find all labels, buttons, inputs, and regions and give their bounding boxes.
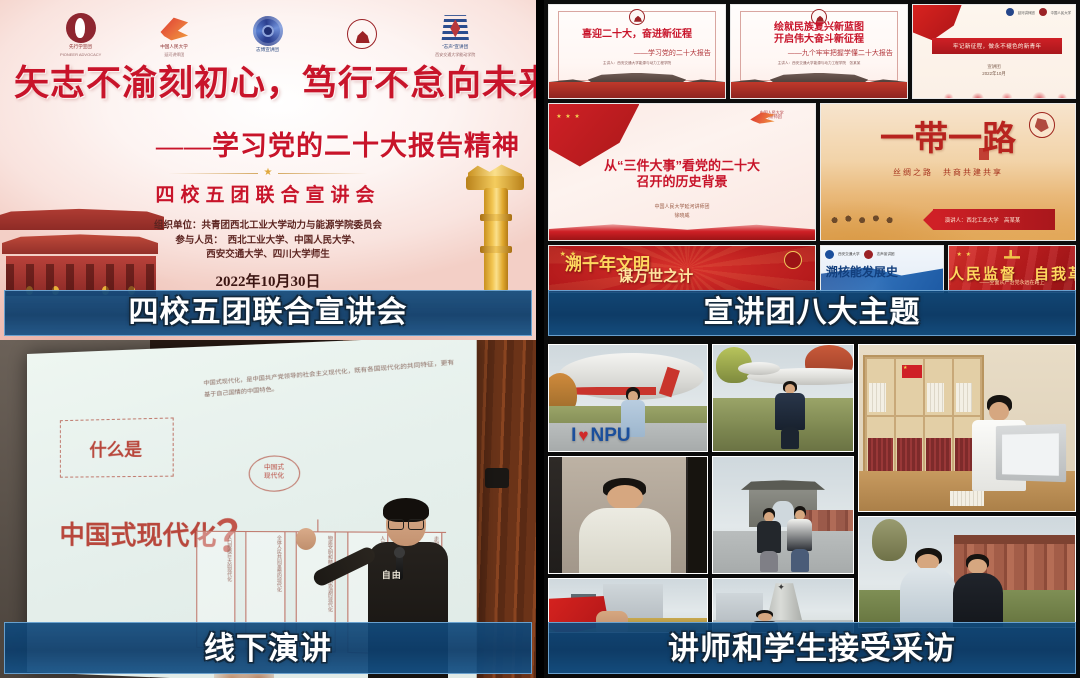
thumb-7-org-logos: 西安交通大学 志声宣讲团 — [825, 250, 895, 259]
thumb-yidai-yilu[interactable]: 一带一路 丝绸之路 共商共建共享 演讲人：西北工业大学 高某某 — [820, 103, 1076, 241]
thumb-6-title-2: 谋万世之计 — [618, 270, 788, 285]
thumb-3-org-logos: 延河讲师团 中国人民大学 — [1006, 8, 1071, 16]
panel-interviews[interactable]: I ♥ NPU — [544, 340, 1080, 678]
thumb-huijiu-minzu-fuxing[interactable]: 绘就民族复兴新蓝图 开启伟大奋斗新征程 ——九个牢牢把握学懂二十大报告 主讲人：… — [730, 4, 908, 99]
flag-stars-icon: ★ ★ — [957, 251, 972, 258]
thumb-renmin-jiandu[interactable]: ★ ★ 人民监督 自我革命 ——全面从严治党永远在路上 — [948, 245, 1076, 293]
panel-offline-lecture[interactable]: 中国式现代化，是中国共产党领导的社会主义现代化，既有各国现代化的共同特征，更有基… — [0, 340, 536, 678]
poster-event-name: 四校五团联合宣讲会 — [0, 180, 536, 207]
male-student-hoodie — [584, 478, 666, 573]
thumb-3-title-banner: 牢记新征程，做永不褪色的新青年 — [932, 38, 1062, 54]
student-right — [786, 506, 814, 571]
panel-poster-caption-text: 四校五团联合宣讲会 — [129, 298, 408, 328]
thumb-1-subtitle: ——学习党的二十大报告 — [560, 48, 711, 58]
thumb-2-subtitle: ——九个牢牢把握学懂二十大报告 — [742, 48, 893, 58]
thumb-3-presenter: 宣讲团 2022年10月 — [913, 63, 1075, 78]
slide-center-node: 中国式 现代化 — [248, 454, 300, 491]
panel-offline-lecture-caption: 线下演讲 — [4, 622, 532, 674]
photo-collage: 先行学宣团 PIONEER ADVOCACY 中国人民大学 延河讲师团 志博宣讲… — [0, 0, 1080, 678]
calligraphy-seal-icon — [1029, 112, 1055, 138]
thumb-sanjian-dashi[interactable]: 中国人民大学 延河讲师团 从“三件大事”看党的二十大 召开的历史背景 中国人民大… — [548, 103, 816, 241]
renda-yanhe-logo: 中国人民大学 延河讲师团 — [750, 111, 794, 120]
org-badge-icon — [784, 251, 802, 269]
panel-poster[interactable]: 先行学宣团 PIONEER ADVOCACY 中国人民大学 延河讲师团 志博宣讲… — [0, 0, 536, 340]
laptop — [996, 423, 1067, 482]
panel-offline-lecture-caption-text: 线下演讲 — [204, 633, 332, 664]
thumb-su-qiannian-wenming[interactable]: ★ ★ 溯千年文明 谋万世之计 — [548, 245, 816, 293]
thumb-4-presenter: 中国人民大学延河讲师团 徐晓威 — [549, 203, 815, 221]
loudspeaker-icon — [485, 468, 509, 488]
renda-yanhe-lecture-team-logo: 中国人民大学 延河讲师团 — [135, 13, 213, 56]
thumb-1-title: 喜迎二十大，奋进新征程 — [560, 29, 715, 42]
photo-student-at-bookshelf-desk[interactable] — [858, 344, 1076, 512]
photo-two-students-at-campus-gate[interactable] — [712, 456, 854, 574]
i-love-npu-sign: I ♥ NPU — [571, 425, 631, 447]
thumb-2-title: 绘就民族复兴新蓝图 开启伟大奋斗新征程 — [742, 22, 897, 47]
poster-logo-row: 先行学宣团 PIONEER ADVOCACY 中国人民大学 延河讲师团 志博宣讲… — [0, 9, 536, 61]
poster-main-title: 矢志不渝刻初心，笃行不怠向未来 — [14, 66, 526, 103]
speaker-shirt-text: 自由 — [382, 568, 402, 581]
bookshelf — [863, 355, 984, 478]
poster-star-divider: ★ — [168, 168, 368, 178]
xianxing-xuanxuan-tuan-logo: 先行学宣团 PIONEER ADVOCACY — [42, 13, 120, 56]
thumb-5-presenter: 演讲人：西北工业大学 高某某 — [933, 209, 1055, 231]
photo-interview-on-campus-lawn[interactable] — [858, 516, 1076, 628]
panel-interviews-caption: 讲师和学生接受采访 — [548, 622, 1076, 674]
thumb-8-subtitle: ——全面从严治党永远在路上 — [949, 279, 1075, 286]
thumb-5-subtitle: 丝绸之路 共商共建共享 — [821, 167, 1075, 178]
photo-webcam-interview-hoodie[interactable] — [548, 456, 708, 574]
panel-interviews-caption-text: 讲师和学生接受采访 — [668, 633, 956, 664]
interviewee-back — [902, 548, 954, 627]
thumb-xin-shidai-qingnian[interactable]: 延河讲师团 中国人民大学 牢记新征程，做永不褪色的新青年 宣讲团 2022年10… — [912, 4, 1076, 99]
interviewer — [954, 554, 1002, 627]
poster-image: 先行学宣团 PIONEER ADVOCACY 中国人民大学 延河讲师团 志博宣讲… — [0, 0, 536, 340]
slide-note-text: 中国式现代化，是中国共产党领导的社会主义现代化，既有各国现代化的共同特征，更有基… — [203, 357, 457, 401]
panel-eight-themes[interactable]: 喜迎二十大，奋进新征程 ——学习党的二十大报告 主讲人：西安交通大学能源与动力工… — [544, 0, 1080, 340]
male-student — [772, 381, 808, 449]
zhibo-lecture-team-logo: 志博宣讲团 — [229, 16, 307, 53]
poster-subtitle: ——学习党的二十大报告精神 — [156, 124, 520, 163]
china-flag-icon — [902, 365, 922, 378]
thumb-4-title: 从“三件大事”看党的二十大 召开的历史背景 — [565, 158, 799, 190]
glasses-icon — [388, 519, 424, 528]
slide-banner-label: 什么是 — [59, 417, 173, 477]
student-left — [755, 508, 783, 571]
photo-student-with-aircraft-wing[interactable] — [712, 344, 854, 452]
bird-icon: ✦ — [777, 582, 785, 593]
photo-student-with-airliner[interactable]: I ♥ NPU — [548, 344, 708, 452]
thumb-xiying-ershida[interactable]: 喜迎二十大，奋进新征程 ——学习党的二十大报告 主讲人：西安交通大学能源与动力工… — [548, 4, 726, 99]
camel-caravan-illustration — [826, 205, 912, 224]
panel-poster-caption: 四校五团联合宣讲会 — [4, 290, 532, 336]
poster-meta: 组织单位：共青团西北工业大学动力与能源学院委员会 参与人员： 西北工业大学、中国… — [0, 219, 536, 263]
poster-date: 2022年10月30日 — [0, 270, 536, 291]
zhisheng-lecture-team-logo: “志声”宣讲团 西安交通大学能动学院 — [416, 13, 494, 56]
eight-themes-grid: 喜迎二十大，奋进新征程 ——学习党的二十大报告 主讲人：西安交通大学能源与动力工… — [544, 0, 1080, 340]
panel-eight-themes-caption: 宣讲团八大主题 — [548, 290, 1076, 336]
thumb-su-heneng-fazhanshi[interactable]: 西安交通大学 志声宣讲团 溯核能发展史 — [820, 245, 944, 293]
thumb-7-title: 溯核能发展史 — [826, 263, 898, 280]
xjtu-seal-logo — [323, 19, 401, 51]
panel-eight-themes-caption-text: 宣讲团八大主题 — [704, 298, 921, 328]
